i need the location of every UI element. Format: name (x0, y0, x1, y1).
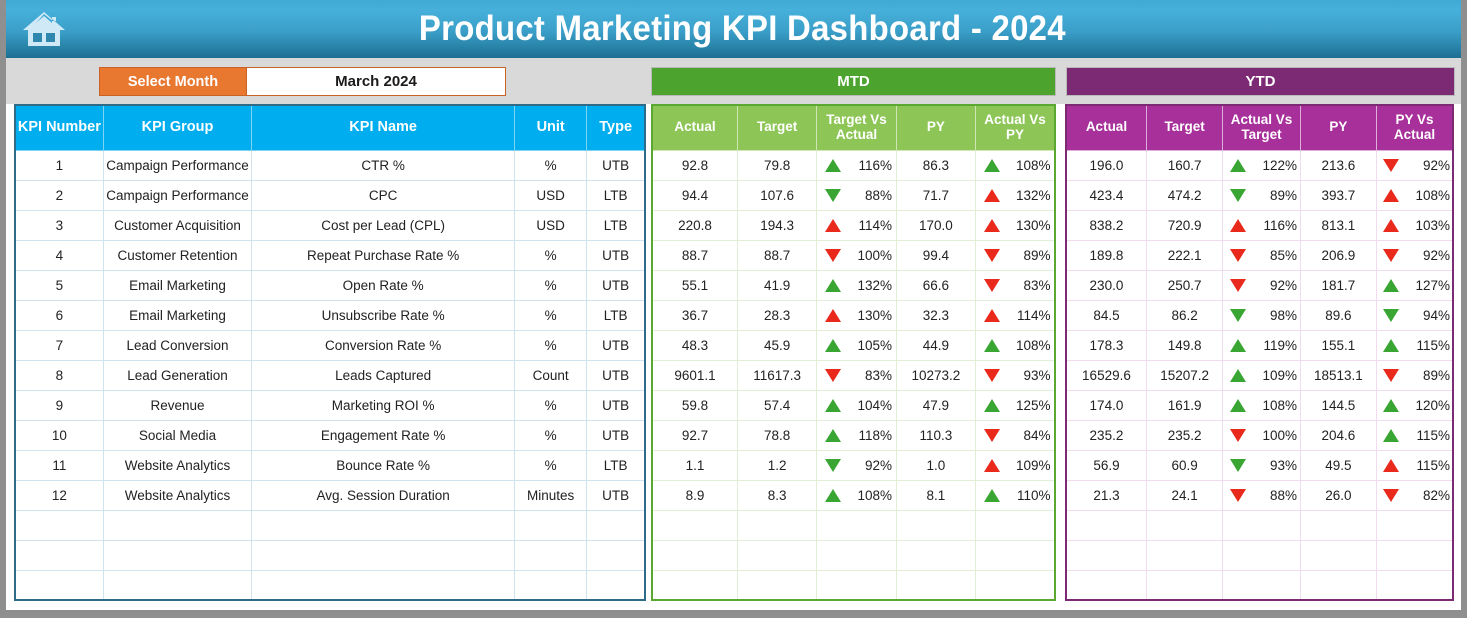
col-mtd-py[interactable]: PY (896, 105, 975, 150)
table-row: 220.8194.3114%170.0130% (652, 210, 1055, 240)
empty-cell (817, 570, 896, 600)
arrow-down-red-icon (1230, 279, 1246, 292)
arrow-down-red-icon (1230, 489, 1246, 502)
cell-kpi-group: Campaign Performance (103, 180, 251, 210)
arrow-up-green-icon (1383, 429, 1399, 442)
cell-mtd-target-vs-actual: 114% (817, 210, 896, 240)
cell-kpi-group: Customer Acquisition (103, 210, 251, 240)
title-bar: Product Marketing KPI Dashboard - 2024 (6, 0, 1461, 58)
cell-kpi-number: 7 (15, 330, 103, 360)
cell-mtd-actual-vs-py: 125% (976, 390, 1055, 420)
arrow-down-green-icon (825, 189, 841, 202)
table-header-row: Actual Target Target Vs Actual PY Actual… (652, 105, 1055, 150)
cell-mtd-py: 71.7 (896, 180, 975, 210)
cell-mtd-py: 32.3 (896, 300, 975, 330)
col-mtd-target-vs-actual[interactable]: Target Vs Actual (817, 105, 896, 150)
cell-ytd-actual-vs-target: 85% (1223, 240, 1300, 270)
cell-ytd-actual-vs-target: 93% (1223, 450, 1300, 480)
cell-ytd-actual: 178.3 (1066, 330, 1146, 360)
cell-mtd-target-vs-actual: 100% (817, 240, 896, 270)
empty-cell (1223, 570, 1300, 600)
table-row: 48.345.9105%44.9108% (652, 330, 1055, 360)
percent-value: 108% (1013, 158, 1051, 173)
cell-kpi-number: 3 (15, 210, 103, 240)
empty-cell (817, 540, 896, 570)
empty-cell (1300, 570, 1376, 600)
cell-kpi-number: 5 (15, 270, 103, 300)
arrow-up-green-icon (984, 399, 1000, 412)
empty-cell (976, 570, 1055, 600)
empty-cell (515, 570, 587, 600)
cell-mtd-actual-vs-py: 114% (976, 300, 1055, 330)
cell-ytd-py: 89.6 (1300, 300, 1376, 330)
cell-kpi-name: Open Rate % (252, 270, 515, 300)
cell-mtd-actual-vs-py: 110% (976, 480, 1055, 510)
percent-value: 98% (1259, 308, 1297, 323)
table-row: 838.2720.9116%813.1103% (1066, 210, 1453, 240)
empty-cell (252, 510, 515, 540)
percent-value: 92% (1412, 248, 1450, 263)
arrow-up-red-icon (1383, 219, 1399, 232)
cell-mtd-py: 44.9 (896, 330, 975, 360)
table-row-empty (15, 570, 645, 600)
cell-ytd-target: 60.9 (1146, 450, 1222, 480)
table-row: 196.0160.7122%213.692% (1066, 150, 1453, 180)
empty-cell (737, 540, 816, 570)
cell-ytd-py-vs-actual: 92% (1377, 150, 1453, 180)
arrow-down-red-icon (984, 429, 1000, 442)
cell-ytd-py-vs-actual: 127% (1377, 270, 1453, 300)
cell-kpi-group: Lead Conversion (103, 330, 251, 360)
table-row: 1Campaign PerformanceCTR %%UTB (15, 150, 645, 180)
empty-cell (817, 510, 896, 540)
cell-mtd-actual: 48.3 (652, 330, 737, 360)
cell-ytd-py-vs-actual: 108% (1377, 180, 1453, 210)
cell-ytd-actual-vs-target: 122% (1223, 150, 1300, 180)
percent-value: 115% (1412, 338, 1450, 353)
arrow-down-red-icon (1230, 249, 1246, 262)
arrow-down-red-icon (825, 369, 841, 382)
cell-ytd-target: 720.9 (1146, 210, 1222, 240)
percent-value: 116% (1259, 218, 1297, 233)
kpi-info-table: KPI Number KPI Group KPI Name Unit Type … (14, 104, 646, 601)
cell-mtd-py: 10273.2 (896, 360, 975, 390)
cell-mtd-py: 99.4 (896, 240, 975, 270)
cell-type: UTB (587, 240, 645, 270)
cell-ytd-actual: 230.0 (1066, 270, 1146, 300)
table-row-empty (1066, 570, 1453, 600)
percent-value: 105% (854, 338, 892, 353)
arrow-up-red-icon (984, 309, 1000, 322)
arrow-up-green-icon (825, 159, 841, 172)
cell-mtd-target: 57.4 (737, 390, 816, 420)
percent-value: 110% (1013, 488, 1051, 503)
cell-kpi-name: Repeat Purchase Rate % (252, 240, 515, 270)
col-mtd-actual-vs-py[interactable]: Actual Vs PY (976, 105, 1055, 150)
cell-kpi-number: 2 (15, 180, 103, 210)
percent-value: 127% (1412, 278, 1450, 293)
cell-kpi-number: 10 (15, 420, 103, 450)
arrow-up-red-icon (825, 219, 841, 232)
cell-ytd-target: 235.2 (1146, 420, 1222, 450)
cell-mtd-target-vs-actual: 92% (817, 450, 896, 480)
arrow-up-red-icon (984, 189, 1000, 202)
cell-mtd-actual-vs-py: 83% (976, 270, 1055, 300)
cell-unit: % (515, 240, 587, 270)
cell-ytd-py-vs-actual: 120% (1377, 390, 1453, 420)
table-row: 8.98.3108%8.1110% (652, 480, 1055, 510)
cell-type: LTB (587, 300, 645, 330)
table-row: 56.960.993%49.5115% (1066, 450, 1453, 480)
cell-mtd-actual: 92.7 (652, 420, 737, 450)
cell-mtd-actual: 92.8 (652, 150, 737, 180)
percent-value: 89% (1013, 248, 1051, 263)
percent-value: 132% (854, 278, 892, 293)
cell-unit: % (515, 450, 587, 480)
empty-cell (1146, 570, 1222, 600)
cell-ytd-py-vs-actual: 115% (1377, 330, 1453, 360)
empty-cell (1066, 510, 1146, 540)
table-row: 1.11.292%1.0109% (652, 450, 1055, 480)
cell-mtd-target-vs-actual: 118% (817, 420, 896, 450)
arrow-down-red-icon (825, 249, 841, 262)
cell-kpi-number: 6 (15, 300, 103, 330)
cell-mtd-target: 88.7 (737, 240, 816, 270)
cell-mtd-actual-vs-py: 93% (976, 360, 1055, 390)
empty-cell (1146, 540, 1222, 570)
empty-cell (896, 510, 975, 540)
col-mtd-actual[interactable]: Actual (652, 105, 737, 150)
cell-ytd-py: 213.6 (1300, 150, 1376, 180)
table-row: 10Social MediaEngagement Rate %%UTB (15, 420, 645, 450)
arrow-up-green-icon (1383, 339, 1399, 352)
month-selector[interactable]: Select Month March 2024 (99, 67, 506, 96)
cell-ytd-actual-vs-target: 98% (1223, 300, 1300, 330)
home-button[interactable] (6, 0, 82, 58)
col-kpi-number[interactable]: KPI Number (15, 105, 103, 150)
home-icon (22, 9, 66, 49)
arrow-up-green-icon (984, 339, 1000, 352)
cell-kpi-name: Conversion Rate % (252, 330, 515, 360)
cell-kpi-group: Revenue (103, 390, 251, 420)
col-ytd-actual-vs-target[interactable]: Actual Vs Target (1223, 105, 1300, 150)
percent-value: 108% (1259, 398, 1297, 413)
cell-ytd-py: 18513.1 (1300, 360, 1376, 390)
cell-unit: USD (515, 210, 587, 240)
percent-value: 83% (1013, 278, 1051, 293)
cell-ytd-py-vs-actual: 115% (1377, 450, 1453, 480)
cell-unit: Count (515, 360, 587, 390)
cell-kpi-number: 4 (15, 240, 103, 270)
table-row: 4Customer RetentionRepeat Purchase Rate … (15, 240, 645, 270)
empty-cell (1377, 510, 1453, 540)
table-row: 235.2235.2100%204.6115% (1066, 420, 1453, 450)
select-month-label: Select Month (99, 67, 247, 96)
arrow-down-red-icon (1383, 159, 1399, 172)
arrow-up-green-icon (1230, 399, 1246, 412)
empty-cell (1377, 570, 1453, 600)
cell-kpi-name: Unsubscribe Rate % (252, 300, 515, 330)
cell-mtd-target-vs-actual: 116% (817, 150, 896, 180)
cell-mtd-actual-vs-py: 132% (976, 180, 1055, 210)
table-row: 230.0250.792%181.7127% (1066, 270, 1453, 300)
col-ytd-py-vs-actual[interactable]: PY Vs Actual (1377, 105, 1453, 150)
arrow-up-green-icon (825, 489, 841, 502)
cell-type: UTB (587, 330, 645, 360)
percent-value: 115% (1412, 458, 1450, 473)
empty-cell (1300, 540, 1376, 570)
cell-ytd-actual: 21.3 (1066, 480, 1146, 510)
table-row-empty (652, 540, 1055, 570)
percent-value: 114% (1013, 308, 1051, 323)
arrow-down-red-icon (984, 369, 1000, 382)
cell-ytd-target: 149.8 (1146, 330, 1222, 360)
cell-mtd-actual-vs-py: 84% (976, 420, 1055, 450)
table-row: 5Email MarketingOpen Rate %%UTB (15, 270, 645, 300)
empty-cell (652, 540, 737, 570)
cell-ytd-actual: 235.2 (1066, 420, 1146, 450)
cell-mtd-actual: 88.7 (652, 240, 737, 270)
percent-value: 104% (854, 398, 892, 413)
cell-ytd-py: 144.5 (1300, 390, 1376, 420)
empty-cell (652, 510, 737, 540)
cell-unit: % (515, 420, 587, 450)
percent-value: 103% (1412, 218, 1450, 233)
empty-cell (976, 540, 1055, 570)
cell-mtd-actual: 8.9 (652, 480, 737, 510)
arrow-up-green-icon (825, 429, 841, 442)
percent-value: 130% (854, 308, 892, 323)
percent-value: 82% (1412, 488, 1450, 503)
cell-mtd-target: 41.9 (737, 270, 816, 300)
cell-mtd-target-vs-actual: 83% (817, 360, 896, 390)
arrow-down-green-icon (1383, 309, 1399, 322)
percent-value: 94% (1412, 308, 1450, 323)
table-row: 59.857.4104%47.9125% (652, 390, 1055, 420)
cell-kpi-name: Bounce Rate % (252, 450, 515, 480)
cell-type: UTB (587, 150, 645, 180)
cell-ytd-py: 155.1 (1300, 330, 1376, 360)
cell-mtd-target: 45.9 (737, 330, 816, 360)
cell-unit: USD (515, 180, 587, 210)
cell-mtd-target-vs-actual: 108% (817, 480, 896, 510)
arrow-up-red-icon (1383, 189, 1399, 202)
cell-kpi-number: 12 (15, 480, 103, 510)
cell-kpi-number: 11 (15, 450, 103, 480)
table-row: 92.778.8118%110.384% (652, 420, 1055, 450)
table-row: 11Website AnalyticsBounce Rate %%LTB (15, 450, 645, 480)
percent-value: 108% (1412, 188, 1450, 203)
cell-ytd-actual-vs-target: 109% (1223, 360, 1300, 390)
percent-value: 93% (1013, 368, 1051, 383)
cell-ytd-py: 181.7 (1300, 270, 1376, 300)
empty-cell (15, 510, 103, 540)
mtd-banner: MTD (651, 67, 1056, 96)
col-ytd-actual[interactable]: Actual (1066, 105, 1146, 150)
cell-kpi-number: 1 (15, 150, 103, 180)
empty-cell (515, 540, 587, 570)
cell-type: LTB (587, 450, 645, 480)
table-row: 174.0161.9108%144.5120% (1066, 390, 1453, 420)
percent-value: 108% (854, 488, 892, 503)
percent-value: 115% (1412, 428, 1450, 443)
arrow-up-red-icon (825, 309, 841, 322)
arrow-down-red-icon (1383, 249, 1399, 262)
empty-cell (103, 570, 251, 600)
empty-cell (1223, 510, 1300, 540)
cell-kpi-name: CPC (252, 180, 515, 210)
table-row: 84.586.298%89.694% (1066, 300, 1453, 330)
empty-cell (587, 540, 645, 570)
cell-mtd-target-vs-actual: 130% (817, 300, 896, 330)
cell-ytd-target: 250.7 (1146, 270, 1222, 300)
empty-cell (896, 570, 975, 600)
cell-ytd-py: 26.0 (1300, 480, 1376, 510)
empty-cell (1223, 540, 1300, 570)
percent-value: 88% (1259, 488, 1297, 503)
cell-ytd-target: 15207.2 (1146, 360, 1222, 390)
percent-value: 100% (1259, 428, 1297, 443)
col-ytd-target[interactable]: Target (1146, 105, 1222, 150)
arrow-down-red-icon (984, 249, 1000, 262)
col-kpi-group[interactable]: KPI Group (103, 105, 251, 150)
cell-mtd-py: 66.6 (896, 270, 975, 300)
cell-kpi-group: Email Marketing (103, 270, 251, 300)
table-row: 9RevenueMarketing ROI %%UTB (15, 390, 645, 420)
empty-cell (1146, 510, 1222, 540)
percent-value: 93% (1259, 458, 1297, 473)
percent-value: 108% (1013, 338, 1051, 353)
cell-type: LTB (587, 180, 645, 210)
cell-mtd-py: 170.0 (896, 210, 975, 240)
table-row: 423.4474.289%393.7108% (1066, 180, 1453, 210)
cell-ytd-target: 474.2 (1146, 180, 1222, 210)
cell-unit: % (515, 270, 587, 300)
cell-mtd-py: 8.1 (896, 480, 975, 510)
cell-ytd-actual: 423.4 (1066, 180, 1146, 210)
cell-ytd-py: 206.9 (1300, 240, 1376, 270)
empty-cell (15, 540, 103, 570)
cell-kpi-group: Social Media (103, 420, 251, 450)
cell-ytd-actual-vs-target: 108% (1223, 390, 1300, 420)
cell-ytd-target: 86.2 (1146, 300, 1222, 330)
cell-unit: % (515, 300, 587, 330)
empty-cell (252, 540, 515, 570)
percent-value: 116% (854, 158, 892, 173)
percent-value: 119% (1259, 338, 1297, 353)
arrow-down-red-icon (984, 279, 1000, 292)
cell-ytd-actual-vs-target: 100% (1223, 420, 1300, 450)
percent-value: 89% (1259, 188, 1297, 203)
cell-kpi-group: Website Analytics (103, 450, 251, 480)
empty-cell (737, 510, 816, 540)
empty-cell (103, 540, 251, 570)
cell-kpi-name: Avg. Session Duration (252, 480, 515, 510)
cell-ytd-actual: 56.9 (1066, 450, 1146, 480)
cell-type: UTB (587, 420, 645, 450)
cell-kpi-group: Website Analytics (103, 480, 251, 510)
cell-ytd-py-vs-actual: 103% (1377, 210, 1453, 240)
cell-mtd-target: 8.3 (737, 480, 816, 510)
arrow-up-green-icon (825, 279, 841, 292)
empty-cell (587, 570, 645, 600)
arrow-up-red-icon (984, 219, 1000, 232)
percent-value: 118% (854, 428, 892, 443)
arrow-up-green-icon (825, 339, 841, 352)
percent-value: 120% (1412, 398, 1450, 413)
cell-ytd-py-vs-actual: 89% (1377, 360, 1453, 390)
table-row: 16529.615207.2109%18513.189% (1066, 360, 1453, 390)
cell-mtd-actual-vs-py: 108% (976, 150, 1055, 180)
cell-mtd-actual-vs-py: 109% (976, 450, 1055, 480)
cell-ytd-actual: 189.8 (1066, 240, 1146, 270)
ytd-table: Actual Target Actual Vs Target PY PY Vs … (1065, 104, 1454, 601)
percent-value: 125% (1013, 398, 1051, 413)
table-row-empty (1066, 510, 1453, 540)
cell-mtd-actual: 94.4 (652, 180, 737, 210)
page-title: Product Marketing KPI Dashboard - 2024 (123, 9, 1419, 49)
col-type[interactable]: Type (587, 105, 645, 150)
cell-ytd-actual-vs-target: 89% (1223, 180, 1300, 210)
empty-cell (587, 510, 645, 540)
cell-ytd-actual-vs-target: 116% (1223, 210, 1300, 240)
cell-ytd-target: 161.9 (1146, 390, 1222, 420)
arrow-down-green-icon (825, 459, 841, 472)
cell-mtd-actual: 36.7 (652, 300, 737, 330)
arrow-down-red-icon (1230, 429, 1246, 442)
arrow-up-red-icon (984, 459, 1000, 472)
arrow-down-green-icon (1230, 309, 1246, 322)
empty-cell (1300, 510, 1376, 540)
tables-area: KPI Number KPI Group KPI Name Unit Type … (14, 104, 1461, 610)
empty-cell (652, 570, 737, 600)
table-row: 92.879.8116%86.3108% (652, 150, 1055, 180)
arrow-up-red-icon (1383, 459, 1399, 472)
arrow-up-green-icon (1383, 279, 1399, 292)
cell-mtd-actual: 220.8 (652, 210, 737, 240)
cell-type: UTB (587, 480, 645, 510)
table-row: 94.4107.688%71.7132% (652, 180, 1055, 210)
percent-value: 89% (1412, 368, 1450, 383)
select-month-value[interactable]: March 2024 (247, 67, 506, 96)
col-unit[interactable]: Unit (515, 105, 587, 150)
percent-value: 109% (1259, 368, 1297, 383)
cell-ytd-py-vs-actual: 115% (1377, 420, 1453, 450)
percent-value: 109% (1013, 458, 1051, 473)
cell-type: UTB (587, 360, 645, 390)
table-row-empty (15, 540, 645, 570)
arrow-up-red-icon (1230, 219, 1246, 232)
cell-ytd-target: 160.7 (1146, 150, 1222, 180)
percent-value: 132% (1013, 188, 1051, 203)
cell-kpi-group: Email Marketing (103, 300, 251, 330)
col-ytd-py[interactable]: PY (1300, 105, 1376, 150)
table-header-row: KPI Number KPI Group KPI Name Unit Type (15, 105, 645, 150)
cell-mtd-py: 47.9 (896, 390, 975, 420)
cell-ytd-py: 204.6 (1300, 420, 1376, 450)
table-row-empty (1066, 540, 1453, 570)
percent-value: 130% (1013, 218, 1051, 233)
cell-ytd-py: 813.1 (1300, 210, 1376, 240)
percent-value: 100% (854, 248, 892, 263)
col-mtd-target[interactable]: Target (737, 105, 816, 150)
table-row: 189.8222.185%206.992% (1066, 240, 1453, 270)
cell-kpi-name: Leads Captured (252, 360, 515, 390)
col-kpi-name[interactable]: KPI Name (252, 105, 515, 150)
percent-value: 83% (854, 368, 892, 383)
mtd-table: Actual Target Target Vs Actual PY Actual… (651, 104, 1056, 601)
arrow-down-green-icon (1230, 189, 1246, 202)
